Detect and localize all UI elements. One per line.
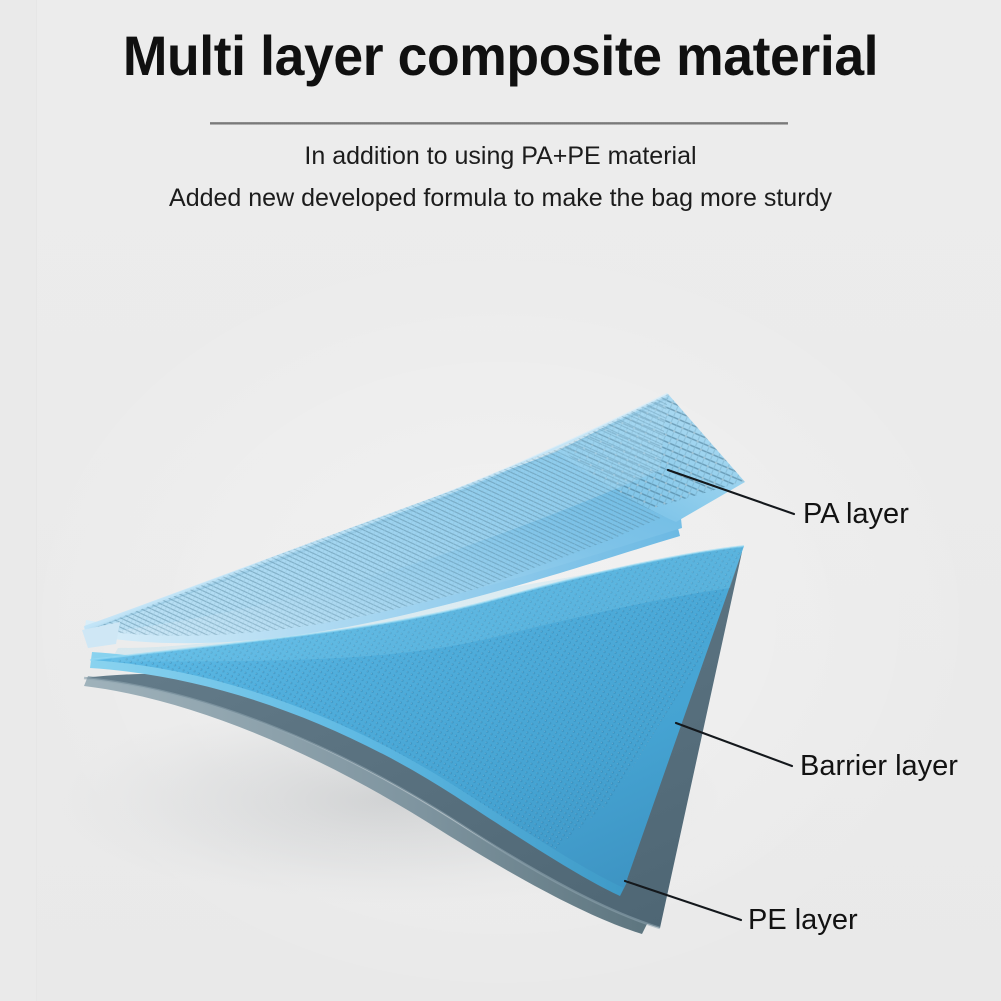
callout-label-pe-layer: PE layer xyxy=(748,903,858,937)
callout-label-barrier-layer: Barrier layer xyxy=(800,749,958,783)
callout-label-pa-layer: PA layer xyxy=(803,497,909,531)
page-root: Multi layer composite material In additi… xyxy=(0,0,1001,1001)
